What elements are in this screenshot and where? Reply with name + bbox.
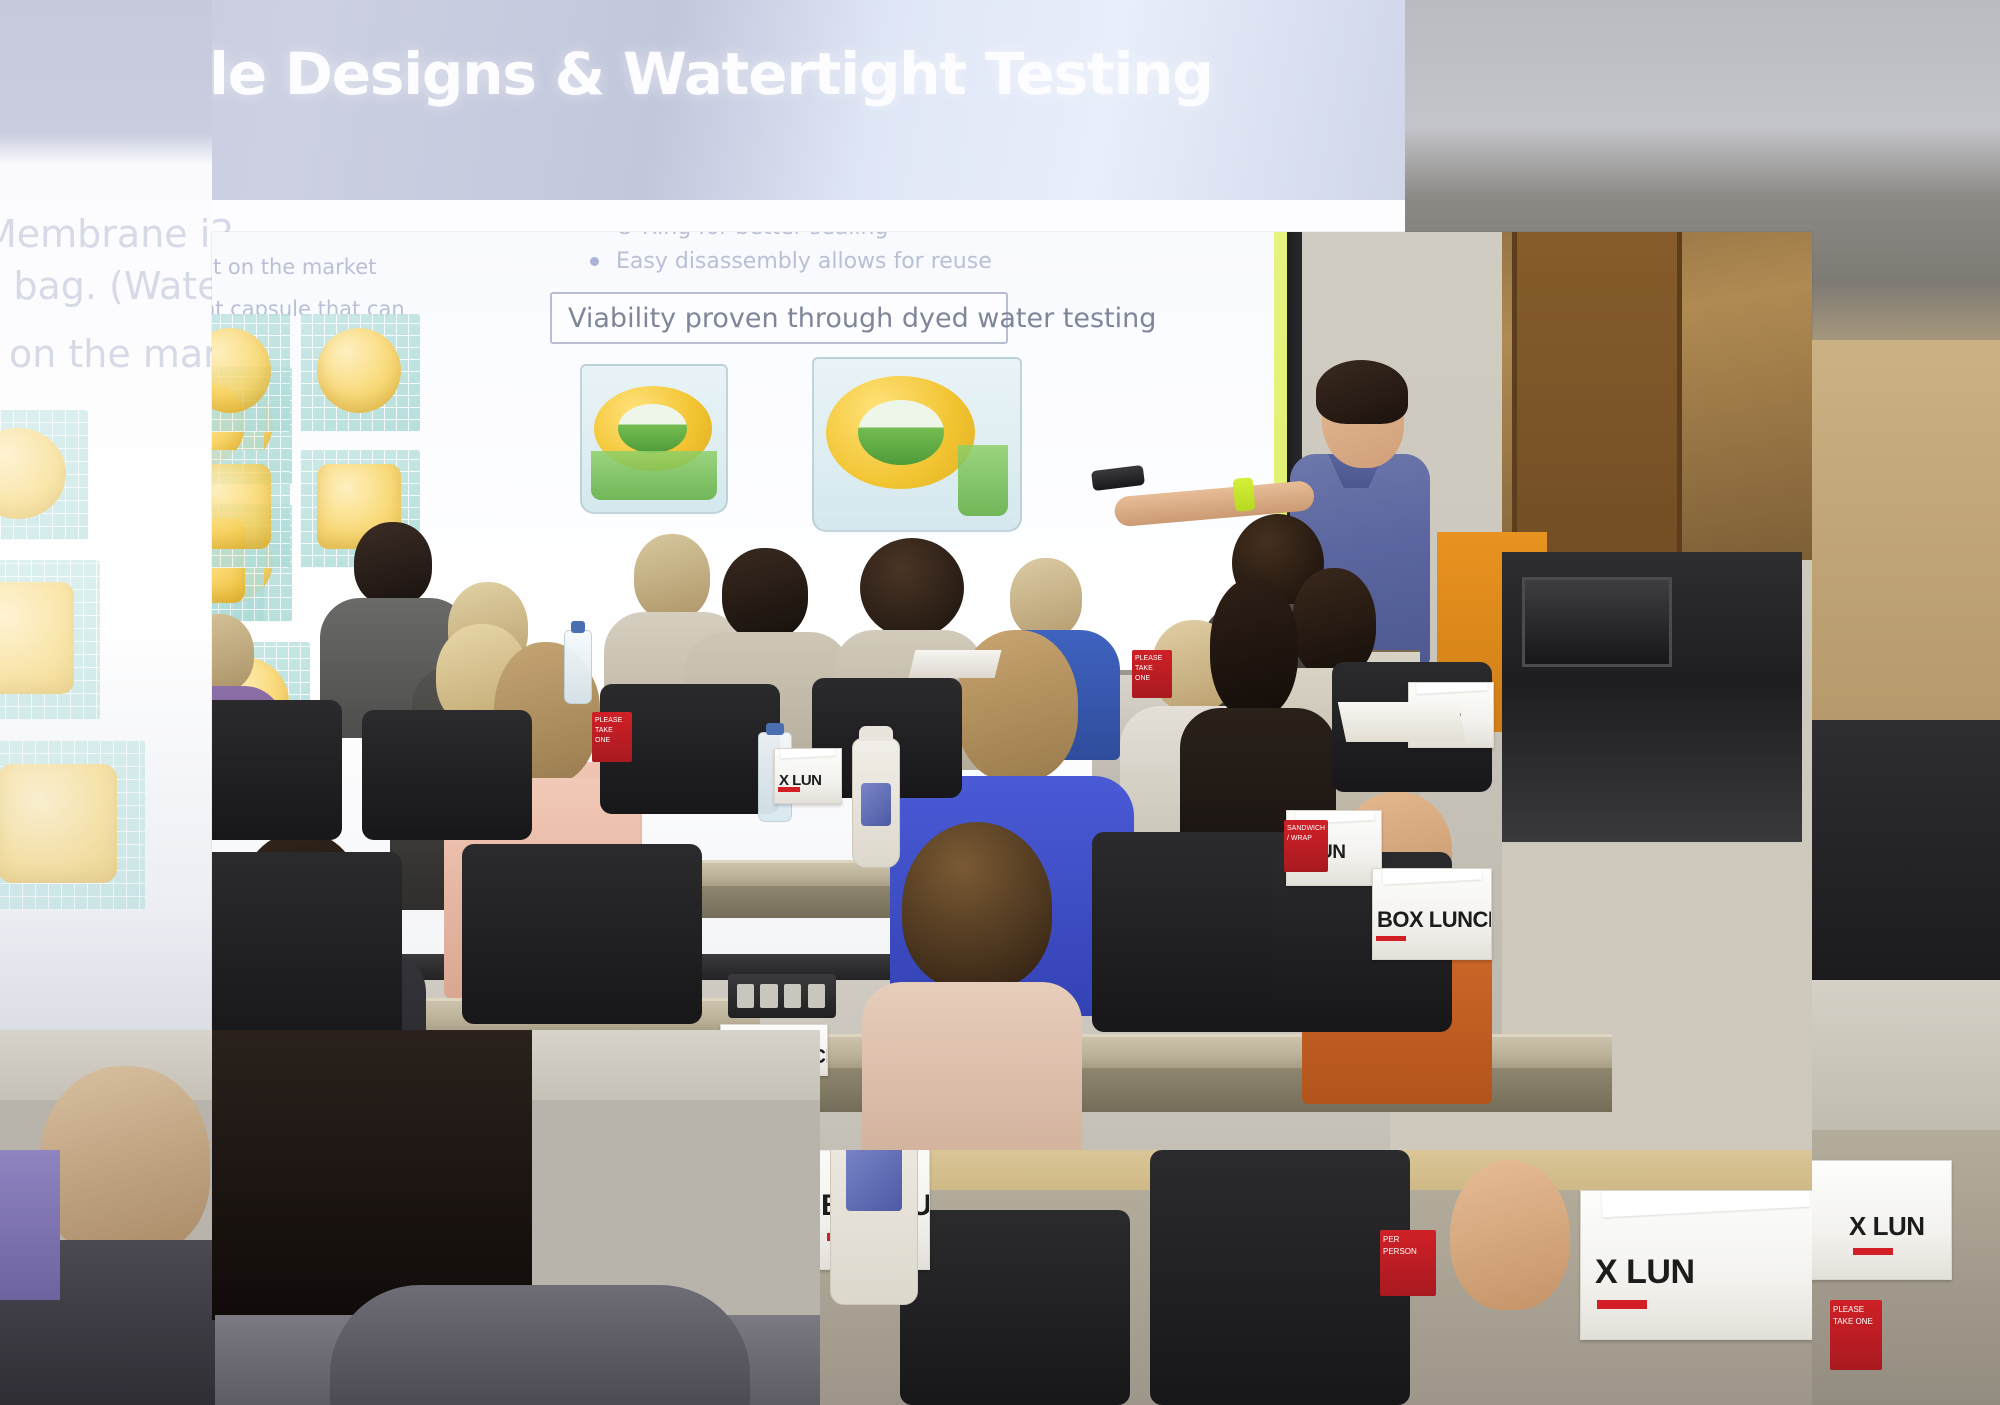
audience-head-braids [902,822,1052,990]
dyed-water-right [958,445,1007,517]
capsule-render-6 [212,314,290,432]
lunch-box-stripe [1853,1248,1893,1255]
fragment-chair [900,1210,1130,1405]
lunch-box-label: BOX LUNCH [1377,907,1492,933]
dyed-water-left [591,451,718,501]
red-card-text: SANDWICH / WRAP [1287,824,1325,844]
capsule-render-8 [212,450,290,568]
lunch-box-flap [780,748,836,758]
av-monitor [1522,577,1672,667]
outlet-slot [737,984,754,1009]
audience-head [634,534,710,620]
lunch-box: BOX LUNCH [1372,868,1492,960]
chair [212,852,402,1052]
capsule-in-beaker-right [826,376,974,489]
fragment-head [1450,1160,1570,1310]
red-card-text: PLEASE TAKE ONE [595,716,629,746]
slide-right-bullet-1: O-Ring for better sealing [616,232,888,244]
red-card-text: PER PERSON [1383,1234,1433,1257]
lunch-box: X LUN [1812,1160,1952,1280]
lunch-box-stripe [778,787,800,792]
fragment-dark [1812,720,2000,1000]
outlet-slot [784,984,801,1009]
outlet-slot [760,984,777,1009]
presenter-hair [1316,360,1408,424]
lunch-box-stripe [1376,936,1406,941]
water-test-beaker-left [580,364,728,514]
water-test-beaker-right [812,357,1022,532]
lunch-box-flap [1415,682,1487,694]
lunch-box-label: X LUN [779,772,822,789]
bottle-cap [571,621,586,633]
red-info-card: PLEASE TAKE ONE [592,712,632,762]
lunch-box: X LUN [1580,1190,1830,1340]
red-info-card: PER PERSON [1380,1230,1436,1296]
tumbler-sticker [846,1150,901,1211]
screenshot-root: Capsule Designs & Watertight Testing Mem… [0,0,2000,1405]
lunch-box: X LUN [774,748,842,804]
fragment-shoulder [0,1150,60,1300]
insulated-tumbler [852,738,900,868]
slide-callout-text: Viability proven through dyed water test… [568,303,1156,334]
fragment-wood [1812,340,2000,720]
slide-callout-box: Viability proven through dyed water test… [550,292,1008,344]
audience-head [722,548,808,640]
left-strip-ghost-1: Membrane i2 [0,210,235,259]
chair [362,710,532,840]
left-strip-ghost-2: a bag. (Wate [0,262,221,311]
insulated-tumbler [830,1150,918,1305]
audience-head-curly [860,538,964,638]
paper-sheet [909,650,1002,678]
left-strip-ghost-3: t on the mark [0,330,241,379]
chair [212,700,342,840]
bottom-left-photo-fragment [0,1030,820,1405]
fragment-head-1 [40,1066,210,1256]
left-slide-strip-fragment: Membrane i2 a bag. (Wate t on the mark [0,0,212,1030]
lunch-box-flap [1599,1190,1810,1217]
left-strip-thumb-2 [0,560,100,720]
presenter-wristband [1233,477,1256,512]
left-strip-thumb-3 [0,740,145,910]
fragment-chair [1150,1150,1410,1405]
red-info-card: PLEASE TAKE ONE [1830,1300,1882,1370]
fragment-head-2 [212,1030,532,1320]
lunch-box-stripe [1597,1300,1647,1309]
capsule-render-7 [300,314,420,432]
audience-head [1010,558,1082,638]
tumbler-sticker [861,783,890,827]
left-strip-thumb-1 [0,410,88,540]
lunch-box-flap [1382,868,1483,884]
outlet-slot [808,984,825,1009]
red-info-card: PLEASE TAKE ONE [1132,650,1172,698]
chair [462,844,702,1024]
tumbler-lid [859,726,892,741]
water-bottle [564,630,592,704]
red-info-card: SANDWICH / WRAP [1284,820,1328,872]
fragment-body-3 [330,1285,750,1405]
red-card-text: PLEASE TAKE ONE [1135,654,1169,684]
audience-head-longhair [1210,578,1298,718]
slide-bullet-dot-2 [590,257,599,266]
right-column-photo-fragment: X LUN PLEASE TAKE ONE [1812,340,2000,1405]
bottle-cap [766,723,784,735]
slide-left-line-1: Membranes are not on the market [212,252,446,282]
lunch-box-label: X LUN [1595,1253,1695,1292]
red-card-text: PLEASE TAKE ONE [1833,1304,1879,1327]
slide-right-bullet-2: Easy disassembly allows for reuse [616,246,992,278]
table-power-outlet[interactable] [728,974,836,1018]
audience-head [354,522,432,606]
lunch-box-label: X LUN [1849,1211,1925,1242]
paper-sheet [1338,702,1467,742]
